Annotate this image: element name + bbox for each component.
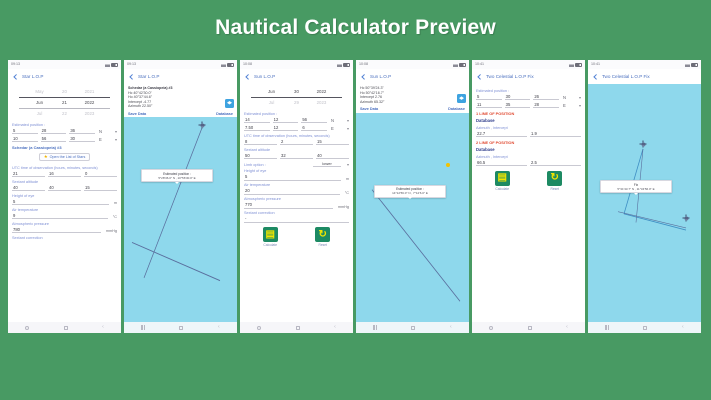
height-of-eye-label: Height of eye — [12, 194, 117, 198]
atmospheric-pressure-row[interactable]: 770 mmHg — [244, 202, 349, 209]
atmospheric-pressure-unit: mmHg — [336, 205, 349, 209]
tooltip-coords: 14°12'56.0" N , 7°12'6.0" E — [378, 191, 442, 195]
lat-minutes-input[interactable]: 12 — [273, 117, 299, 124]
estimated-position-label: Estimated position : — [244, 112, 349, 116]
sextant-seconds-input[interactable]: 15 — [84, 185, 117, 192]
estimated-position-tooltip: Estimated position : 14°12'56.0" N , 7°1… — [374, 185, 446, 198]
status-icons — [221, 63, 235, 67]
database-button[interactable]: Database — [448, 107, 465, 111]
result-azimuth: Azimuth 22.50° — [128, 104, 233, 109]
utc-hours-input[interactable]: 8 — [244, 139, 277, 146]
home-icon[interactable] — [411, 326, 415, 330]
lop2-intercept-input[interactable]: 2.5 — [530, 160, 581, 167]
battery-icon — [227, 63, 234, 67]
back-nav-icon[interactable]: ‹ — [102, 325, 104, 330]
status-bar: 09:13 — [124, 60, 237, 69]
date-next-month: Jul — [33, 110, 46, 118]
map-layers-icon[interactable] — [457, 94, 466, 103]
signal-icon — [337, 63, 342, 67]
map-lines — [588, 84, 701, 322]
chevron-down-icon[interactable]: ▾ — [576, 103, 581, 108]
sextant-correction-row[interactable]: - — [244, 216, 349, 223]
utc-row[interactable]: 21 16 0 — [12, 171, 117, 178]
reset-label: Reset — [318, 243, 327, 247]
limb-option-row[interactable]: Limb option : lower ▾ — [244, 161, 349, 167]
date-picker[interactable]: Jun 30 2022 Jul 29 2023 — [244, 86, 349, 109]
status-bar: 10:41 — [472, 60, 585, 69]
air-temperature-input[interactable]: 20 — [244, 188, 340, 195]
lon-seconds-input[interactable]: 6 — [301, 125, 327, 132]
date-prev-year: 2021 — [83, 88, 96, 96]
phone-4: 10:08 Sun L.O.P Hc 50°39'24.3" Ho 50°42'… — [356, 60, 469, 333]
utc-time-label: UTC time of observation (hours, minutes,… — [12, 166, 117, 170]
battery-icon — [459, 63, 466, 67]
utc-seconds-input[interactable]: 15 — [316, 139, 349, 146]
lon-degrees-input[interactable]: 7.50 — [244, 125, 270, 132]
chevron-down-icon[interactable]: ▾ — [344, 162, 349, 167]
status-time: 10:41 — [475, 63, 484, 67]
back-icon[interactable] — [476, 74, 482, 80]
android-nav-bar: ‹ — [472, 322, 585, 333]
sextant-correction-label: Sextant correction — [244, 211, 349, 215]
status-bar: 10:41 — [588, 60, 701, 69]
recent-apps-icon[interactable] — [25, 326, 29, 330]
fix-tooltip: Fix 5°31'33.7" N , 11°34'56.0" E — [600, 180, 672, 193]
map-lines — [356, 113, 469, 322]
lon-hemisphere-select[interactable]: E — [330, 125, 341, 131]
atmospheric-pressure-unit: mmHg — [104, 229, 117, 233]
form-body: Jun 30 2022 Jul 29 2023 Estimated positi… — [240, 84, 353, 322]
estimated-position-label: Estimated position : — [476, 89, 581, 93]
lon-seconds-input[interactable]: 28 — [533, 102, 559, 109]
date-next-month: Jul — [265, 99, 278, 107]
lop2-header: 2 LINE OF POSITION — [476, 140, 581, 145]
save-data-button[interactable]: Save Data — [360, 107, 378, 111]
app-bar-title: Sun L.O.P — [254, 74, 275, 79]
sextant-correction-label: Sextant correction — [12, 236, 117, 240]
recent-apps-icon[interactable] — [489, 326, 493, 330]
chevron-down-icon[interactable]: ▾ — [112, 129, 117, 134]
date-picker[interactable]: May 20 2021 Jun 21 2022 Jul 22 2023 — [12, 86, 117, 120]
sextant-degrees-input[interactable]: 40 — [12, 185, 45, 192]
database-button[interactable]: Database — [216, 112, 233, 116]
app-bar: Two Celestial L.O.P Fix — [588, 69, 701, 84]
android-nav-bar: ‹ — [240, 322, 353, 333]
status-bar: 09:13 — [8, 60, 121, 69]
back-nav-icon[interactable]: ‹ — [218, 325, 220, 330]
back-nav-icon[interactable]: ‹ — [450, 325, 452, 330]
calculate-button[interactable]: ▤ Calculate — [263, 227, 278, 247]
chevron-down-icon[interactable]: ▾ — [112, 137, 117, 142]
atmospheric-pressure-input[interactable]: 770 — [244, 202, 333, 209]
battery-icon — [575, 63, 582, 67]
status-bar: 10:08 — [356, 60, 469, 69]
air-temperature-input[interactable]: 9 — [12, 213, 108, 220]
star-icon: ★ — [44, 155, 48, 159]
calculate-label: Calculate — [495, 187, 509, 191]
signal-icon — [685, 63, 690, 67]
atmospheric-pressure-label: Atmospheric pressure — [244, 197, 349, 201]
longitude-row[interactable]: 7.50 12 6 E ▾ — [244, 125, 349, 132]
result-info-panel: Hc 50°39'24.3" Ho 50°42'16.7" Intercept … — [356, 84, 469, 107]
android-nav-bar: ‹ — [588, 322, 701, 333]
status-icons — [105, 63, 119, 67]
recent-apps-icon[interactable] — [373, 325, 376, 330]
phone-3: 10:08 Sun L.O.P Jun 30 2022 Jul 29 — [240, 60, 353, 333]
status-time: 09:13 — [11, 63, 20, 67]
page-title: Nautical Calculator Preview — [215, 16, 496, 40]
lop2-values-row[interactable]: 66.5 2.5 — [476, 160, 581, 167]
height-of-eye-input[interactable]: 5 — [244, 174, 341, 181]
lon-minutes-input[interactable]: 35 — [505, 102, 531, 109]
atmospheric-pressure-input[interactable]: 780 — [12, 227, 101, 234]
back-icon[interactable] — [360, 74, 366, 80]
back-nav-icon[interactable]: ‹ — [566, 325, 568, 330]
app-bar-title: Two Celestial L.O.P Fix — [486, 74, 534, 79]
recent-apps-icon[interactable] — [605, 325, 608, 330]
air-temperature-unit: °C — [343, 191, 349, 195]
date-current-row[interactable]: Jun 30 2022 — [244, 88, 349, 96]
map-layers-icon[interactable] — [225, 99, 234, 108]
lop2-azimuth-intercept-label: Azimuth , Intercept — [476, 155, 581, 159]
recent-apps-icon[interactable] — [141, 325, 144, 330]
lop1-header: 1 LINE OF POSITION — [476, 111, 581, 116]
map-marker-star[interactable] — [199, 122, 206, 129]
back-nav-icon[interactable]: ‹ — [334, 325, 336, 330]
phone-1: 09:13 Star L.O.P May 20 2021 Jun 21 — [8, 60, 121, 333]
lat-seconds-input[interactable]: 56 — [301, 117, 327, 124]
app-bar: Sun L.O.P — [240, 69, 353, 84]
height-of-eye-unit: m — [344, 177, 349, 181]
android-nav-bar: ‹ — [8, 322, 121, 333]
status-icons — [569, 63, 583, 67]
phone-5: 10:41 Two Celestial L.O.P Fix Estimated … — [472, 60, 585, 333]
calculate-button[interactable]: ▤ Calculate — [495, 171, 510, 191]
utc-minutes-input[interactable]: 16 — [48, 171, 81, 178]
map-lines — [124, 117, 237, 322]
utc-hours-input[interactable]: 21 — [12, 171, 45, 178]
date-divider-top — [19, 97, 110, 98]
estimated-position-tooltip: Estimated position : 5°28'36.0" N , 10°5… — [141, 169, 213, 182]
lop1-intercept-input[interactable]: 1.9 — [530, 131, 581, 138]
recent-apps-icon[interactable] — [257, 326, 261, 330]
back-icon[interactable] — [592, 74, 598, 80]
action-buttons: ▤ Calculate ↻ Reset — [244, 224, 349, 249]
date-year[interactable]: 2022 — [315, 88, 328, 96]
chevron-down-icon[interactable]: ▾ — [576, 95, 581, 100]
date-next-year: 2023 — [315, 99, 328, 107]
sextant-seconds-input[interactable]: 40 — [316, 153, 349, 160]
sextant-altitude-label: Sextant altitude — [12, 180, 117, 184]
height-of-eye-input[interactable]: 5 — [12, 199, 109, 206]
phone-2: 09:13 Star L.O.P Schedar (a Cassiopeia) … — [124, 60, 237, 333]
back-icon[interactable] — [244, 74, 250, 80]
latitude-row[interactable]: 14 12 56 N ▾ — [244, 117, 349, 124]
map-marker-lop2[interactable] — [683, 215, 690, 222]
lat-hemisphere-select[interactable]: N — [98, 128, 109, 134]
lop1-azimuth-input[interactable]: 22.7 — [476, 131, 527, 138]
date-divider-top — [251, 97, 342, 98]
lat-minutes-input[interactable]: 30 — [505, 94, 531, 101]
back-icon[interactable] — [12, 74, 18, 80]
map-marker-lop1[interactable] — [640, 141, 647, 148]
sextant-altitude-label: Sextant altitude — [244, 148, 349, 152]
result-azimuth: Azimuth 65.32° — [360, 100, 465, 105]
latitude-row[interactable]: 5 28 36 N ▾ — [12, 128, 117, 135]
sextant-row[interactable]: 50 32 40 — [244, 153, 349, 160]
battery-icon — [691, 63, 698, 67]
lop1-azimuth-intercept-label: Azimuth , Intercept — [476, 126, 581, 130]
battery-icon — [111, 63, 118, 67]
app-bar-title: Star L.O.P — [138, 74, 159, 79]
page-banner: Nautical Calculator Preview — [0, 0, 711, 55]
air-temperature-label: Air temperature — [12, 208, 117, 212]
signal-icon — [453, 63, 458, 67]
longitude-row[interactable]: 10 56 30 E ▾ — [12, 136, 117, 143]
date-prev-day: 20 — [58, 88, 71, 96]
tooltip-coords: 5°31'33.7" N , 11°34'56.0" E — [604, 187, 668, 191]
air-temperature-label: Air temperature — [244, 183, 349, 187]
home-icon[interactable] — [528, 326, 532, 330]
map-view[interactable]: Fix 5°31'33.7" N , 11°34'56.0" E — [588, 84, 701, 322]
status-bar: 10:08 — [240, 60, 353, 69]
calculate-icon: ▤ — [263, 227, 278, 242]
longitude-row[interactable]: 11 35 28 E ▾ — [476, 102, 581, 109]
limb-option-select[interactable]: lower — [313, 161, 341, 167]
date-next-day: 29 — [290, 99, 303, 107]
lon-minutes-input[interactable]: 12 — [273, 125, 299, 132]
result-info-panel: Schedar (a Cassiopeia) #3 Hc 40°42'30.0"… — [124, 84, 237, 112]
atmospheric-pressure-label: Atmospheric pressure — [12, 222, 117, 226]
estimated-position-label: Estimated position : — [12, 123, 117, 127]
date-next-row: Jul 29 2023 — [244, 99, 349, 107]
phone-6: 10:41 Two Celestial L.O.P Fix Fix 5°31'3… — [588, 60, 701, 333]
utc-minutes-input[interactable]: 2 — [280, 139, 313, 146]
height-of-eye-row[interactable]: 5 m — [244, 174, 349, 181]
android-nav-bar: ‹ — [356, 322, 469, 333]
sextant-degrees-input[interactable]: 50 — [244, 153, 277, 160]
app-bar-title: Two Celestial L.O.P Fix — [602, 74, 650, 79]
lon-minutes-input[interactable]: 56 — [41, 136, 67, 143]
chevron-down-icon[interactable]: ▾ — [344, 118, 349, 123]
date-prev-row: May 20 2021 — [12, 88, 117, 96]
date-year[interactable]: 2022 — [83, 99, 96, 107]
height-of-eye-row[interactable]: 5 m — [12, 199, 117, 206]
sextant-row[interactable]: 40 40 15 — [12, 185, 117, 192]
map-marker-sun[interactable] — [446, 163, 450, 167]
signal-icon — [221, 63, 226, 67]
signal-icon — [569, 63, 574, 67]
status-time: 10:41 — [591, 63, 600, 67]
form-body: May 20 2021 Jun 21 2022 Jul 22 2023 Esti… — [8, 84, 121, 322]
lat-degrees-input[interactable]: 5 — [12, 128, 38, 135]
height-of-eye-label: Height of eye — [244, 169, 349, 173]
form-body: Estimated position : 5 30 26 N ▾ 11 35 2… — [472, 84, 585, 322]
lon-seconds-input[interactable]: 30 — [69, 136, 95, 143]
reset-icon: ↻ — [315, 227, 330, 242]
date-current-row[interactable]: Jun 21 2022 — [12, 99, 117, 107]
reset-label: Reset — [550, 187, 559, 191]
air-temperature-unit: °C — [111, 215, 117, 219]
date-next-year: 2023 — [83, 110, 96, 118]
action-buttons: ▤ Calculate ↻ Reset — [476, 168, 581, 193]
sextant-minutes-input[interactable]: 32 — [280, 153, 313, 160]
open-star-list-button[interactable]: ★ Open the List of Stars — [39, 153, 91, 162]
battery-icon — [343, 63, 350, 67]
calculate-label: Calculate — [263, 243, 277, 247]
android-nav-bar: ‹ — [124, 322, 237, 333]
air-temperature-row[interactable]: 20 °C — [244, 188, 349, 195]
lon-hemisphere-select[interactable]: E — [98, 136, 109, 142]
height-of-eye-unit: m — [112, 201, 117, 205]
app-bar: Star L.O.P — [8, 69, 121, 84]
home-icon[interactable] — [179, 326, 183, 330]
utc-row[interactable]: 8 2 15 — [244, 139, 349, 146]
lop2-azimuth-input[interactable]: 66.5 — [476, 160, 527, 167]
lon-degrees-input[interactable]: 10 — [12, 136, 38, 143]
home-icon[interactable] — [296, 326, 300, 330]
air-temperature-row[interactable]: 9 °C — [12, 213, 117, 220]
lon-hemisphere-select[interactable]: E — [562, 102, 573, 108]
utc-time-label: UTC time of observation (hours, minutes,… — [244, 134, 349, 138]
signal-icon — [105, 63, 110, 67]
app-bar: Two Celestial L.O.P Fix — [472, 69, 585, 84]
home-icon[interactable] — [643, 326, 647, 330]
tooltip-coords: 5°28'36.0" N , 10°56'30.0" E — [145, 176, 209, 180]
lat-hemisphere-select[interactable]: N — [562, 94, 573, 100]
latitude-row[interactable]: 5 30 26 N ▾ — [476, 94, 581, 101]
atmospheric-pressure-row[interactable]: 780 mmHg — [12, 227, 117, 234]
lat-seconds-input[interactable]: 36 — [69, 128, 95, 135]
lat-minutes-input[interactable]: 28 — [41, 128, 67, 135]
status-icons — [337, 63, 351, 67]
date-day[interactable]: 30 — [290, 88, 303, 96]
selected-star-label: Schedar (a Cassiopeia) #3 — [12, 145, 117, 150]
lop1-database-label[interactable]: Database — [476, 118, 581, 123]
reset-button[interactable]: ↻ Reset — [547, 171, 562, 191]
lat-degrees-input[interactable]: 14 — [244, 117, 270, 124]
sextant-correction-input[interactable]: - — [244, 216, 349, 223]
chevron-down-icon[interactable]: ▾ — [344, 126, 349, 131]
date-month[interactable]: Jun — [265, 88, 278, 96]
status-time: 10:08 — [243, 63, 252, 67]
lon-degrees-input[interactable]: 11 — [476, 102, 502, 109]
open-star-list-label: Open the List of Stars — [50, 155, 86, 159]
app-bar: Star L.O.P — [124, 69, 237, 84]
date-day[interactable]: 21 — [58, 99, 71, 107]
reset-icon: ↻ — [547, 171, 562, 186]
limb-option-label: Limb option : — [244, 163, 310, 167]
date-next-row: Jul 22 2023 — [12, 110, 117, 118]
back-icon[interactable] — [128, 74, 134, 80]
date-prev-month: May — [33, 88, 46, 96]
date-month[interactable]: Jun — [33, 99, 46, 107]
home-icon[interactable] — [64, 326, 68, 330]
date-divider-bottom — [19, 108, 110, 109]
map-view[interactable]: Estimated position : 14°12'56.0" N , 7°1… — [356, 113, 469, 322]
lat-degrees-input[interactable]: 5 — [476, 94, 502, 101]
phone-screenshot-strip: 09:13 Star L.O.P May 20 2021 Jun 21 — [8, 60, 705, 333]
lop2-database-label[interactable]: Database — [476, 147, 581, 152]
save-data-button[interactable]: Save Data — [128, 112, 146, 116]
sextant-minutes-input[interactable]: 40 — [48, 185, 81, 192]
reset-button[interactable]: ↻ Reset — [315, 227, 330, 247]
app-bar: Sun L.O.P — [356, 69, 469, 84]
back-nav-icon[interactable]: ‹ — [682, 325, 684, 330]
date-next-day: 22 — [58, 110, 71, 118]
lop1-values-row[interactable]: 22.7 1.9 — [476, 131, 581, 138]
lat-hemisphere-select[interactable]: N — [330, 117, 341, 123]
status-time: 10:08 — [359, 63, 368, 67]
app-bar-title: Star L.O.P — [22, 74, 43, 79]
lat-seconds-input[interactable]: 26 — [533, 94, 559, 101]
utc-seconds-input[interactable]: 0 — [84, 171, 117, 178]
calculate-icon: ▤ — [495, 171, 510, 186]
map-view[interactable]: Estimated position : 5°28'36.0" N , 10°5… — [124, 117, 237, 322]
status-time: 09:13 — [127, 63, 136, 67]
app-bar-title: Sun L.O.P — [370, 74, 391, 79]
status-icons — [685, 63, 699, 67]
status-icons — [453, 63, 467, 67]
